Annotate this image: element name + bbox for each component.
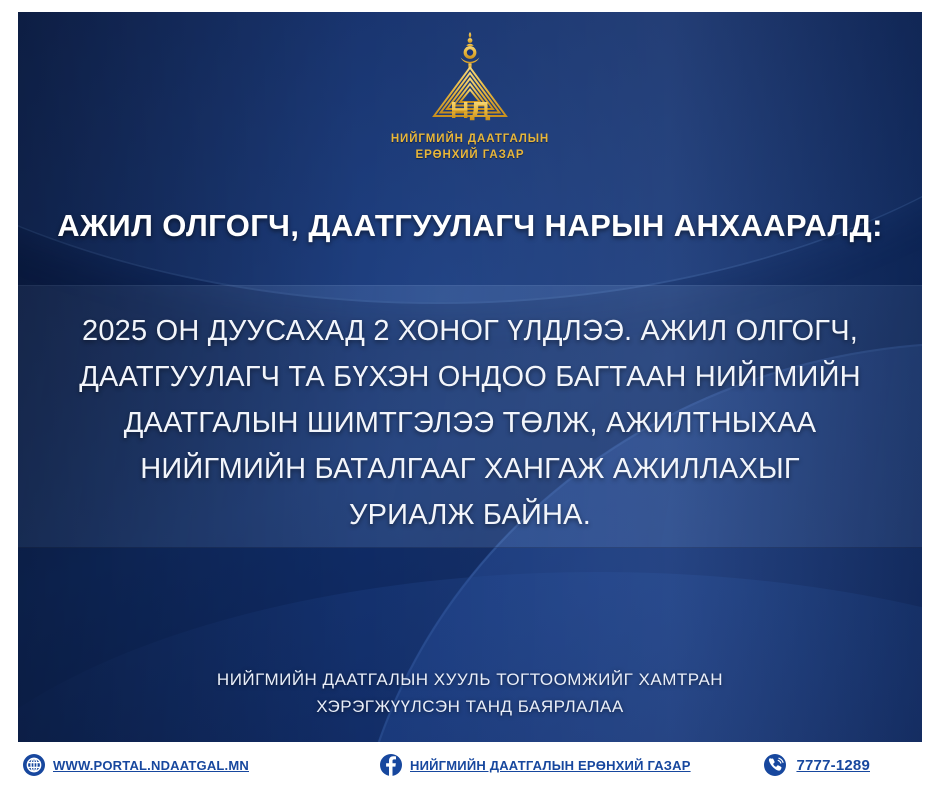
poster-body-text: 2025 ОН ДУУСАХАД 2 ХОНОГ ҮЛДЛЭЭ. АЖИЛ ОЛ… bbox=[76, 308, 864, 538]
contact-bar: WWW.PORTAL.NDAATGAL.MN НИЙГМИЙН ДААТГАЛЫ… bbox=[0, 742, 940, 788]
logo-caption-line1: НИЙГМИЙН ДААТГАЛЫН bbox=[391, 131, 549, 147]
contact-website-label: WWW.PORTAL.NDAATGAL.MN bbox=[53, 758, 249, 773]
contact-phone[interactable]: 7777-1289 bbox=[763, 753, 870, 777]
mongolia-social-insurance-emblem-icon bbox=[424, 30, 516, 126]
logo-caption-line2: ЕРӨНХИЙ ГАЗАР bbox=[391, 147, 549, 163]
poster-artboard: НИЙГМИЙН ДААТГАЛЫН ЕРӨНХИЙ ГАЗАР АЖИЛ ОЛ… bbox=[18, 12, 922, 742]
thanks-line-1: НИЙГМИЙН ДААТГАЛЫН ХУУЛЬ ТОГТООМЖИЙГ ХАМ… bbox=[78, 666, 862, 693]
announcement-poster: НИЙГМИЙН ДААТГАЛЫН ЕРӨНХИЙ ГАЗАР АЖИЛ ОЛ… bbox=[0, 0, 940, 788]
poster-headline: АЖИЛ ОЛГОГЧ, ДААТГУУЛАГЧ НАРЫН АНХААРАЛД… bbox=[18, 208, 922, 244]
phone-icon bbox=[763, 753, 787, 777]
contact-facebook-label: НИЙГМИЙН ДААТГАЛЫН ЕРӨНХИЙ ГАЗАР bbox=[410, 758, 691, 773]
facebook-icon bbox=[379, 753, 403, 777]
poster-thanks-note: НИЙГМИЙН ДААТГАЛЫН ХУУЛЬ ТОГТООМЖИЙГ ХАМ… bbox=[78, 666, 862, 720]
globe-icon bbox=[22, 753, 46, 777]
organization-logo: НИЙГМИЙН ДААТГАЛЫН ЕРӨНХИЙ ГАЗАР bbox=[18, 30, 922, 163]
logo-caption: НИЙГМИЙН ДААТГАЛЫН ЕРӨНХИЙ ГАЗАР bbox=[391, 131, 549, 163]
contact-website[interactable]: WWW.PORTAL.NDAATGAL.MN bbox=[22, 753, 249, 777]
contact-facebook[interactable]: НИЙГМИЙН ДААТГАЛЫН ЕРӨНХИЙ ГАЗАР bbox=[379, 753, 691, 777]
contact-phone-label: 7777-1289 bbox=[796, 757, 870, 774]
thanks-line-2: ХЭРЭГЖҮҮЛСЭН ТАНД БАЯРЛАЛАА bbox=[78, 693, 862, 720]
